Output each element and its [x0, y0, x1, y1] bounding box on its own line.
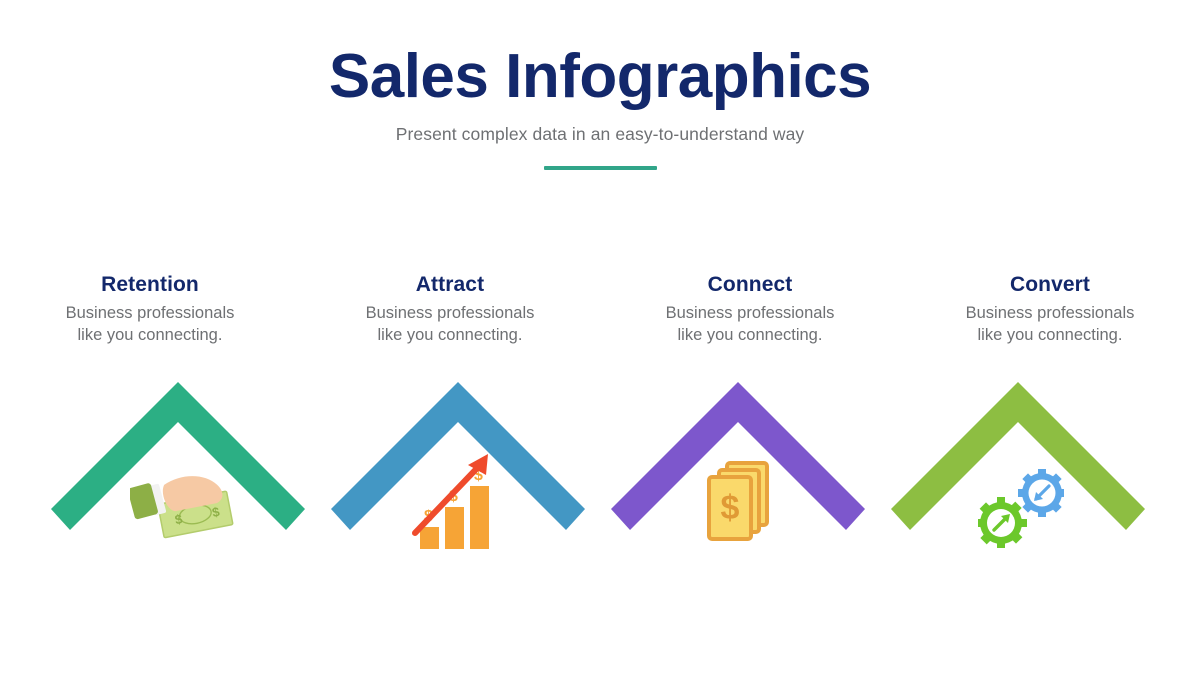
column-title: Retention	[101, 272, 199, 297]
header: Sales Infographics Present complex data …	[0, 44, 1200, 170]
column-description: Business professionals like you connecti…	[366, 303, 535, 347]
column-text-row: Retention Business professionals like yo…	[0, 272, 1200, 347]
chevron-shape	[611, 382, 865, 530]
column-description: Business professionals like you connecti…	[66, 303, 235, 347]
column-title: Attract	[416, 272, 484, 297]
chevron-cell-retention: $ $	[28, 365, 328, 550]
column-description: Business professionals like you connecti…	[966, 303, 1135, 347]
column-retention: Retention Business professionals like yo…	[0, 272, 300, 347]
chevron-cell-connect: $	[588, 365, 888, 550]
page-subtitle: Present complex data in an easy-to-under…	[0, 124, 1200, 145]
chevron-cell-convert	[868, 365, 1168, 550]
chevron-shape	[331, 382, 585, 530]
column-title: Convert	[1010, 272, 1090, 297]
accent-divider	[544, 166, 657, 170]
chevron-row: $ $	[0, 365, 1200, 550]
column-title: Connect	[708, 272, 793, 297]
column-convert: Convert Business professionals like you …	[900, 272, 1200, 347]
chevron-shape	[51, 382, 305, 530]
column-description: Business professionals like you connecti…	[666, 303, 835, 347]
column-connect: Connect Business professionals like you …	[600, 272, 900, 347]
column-attract: Attract Business professionals like you …	[300, 272, 600, 347]
page-title: Sales Infographics	[0, 44, 1200, 110]
chevron-cell-attract: $ $ $	[308, 365, 608, 550]
chevron-shape	[891, 382, 1145, 530]
slide-canvas: Sales Infographics Present complex data …	[0, 0, 1200, 675]
